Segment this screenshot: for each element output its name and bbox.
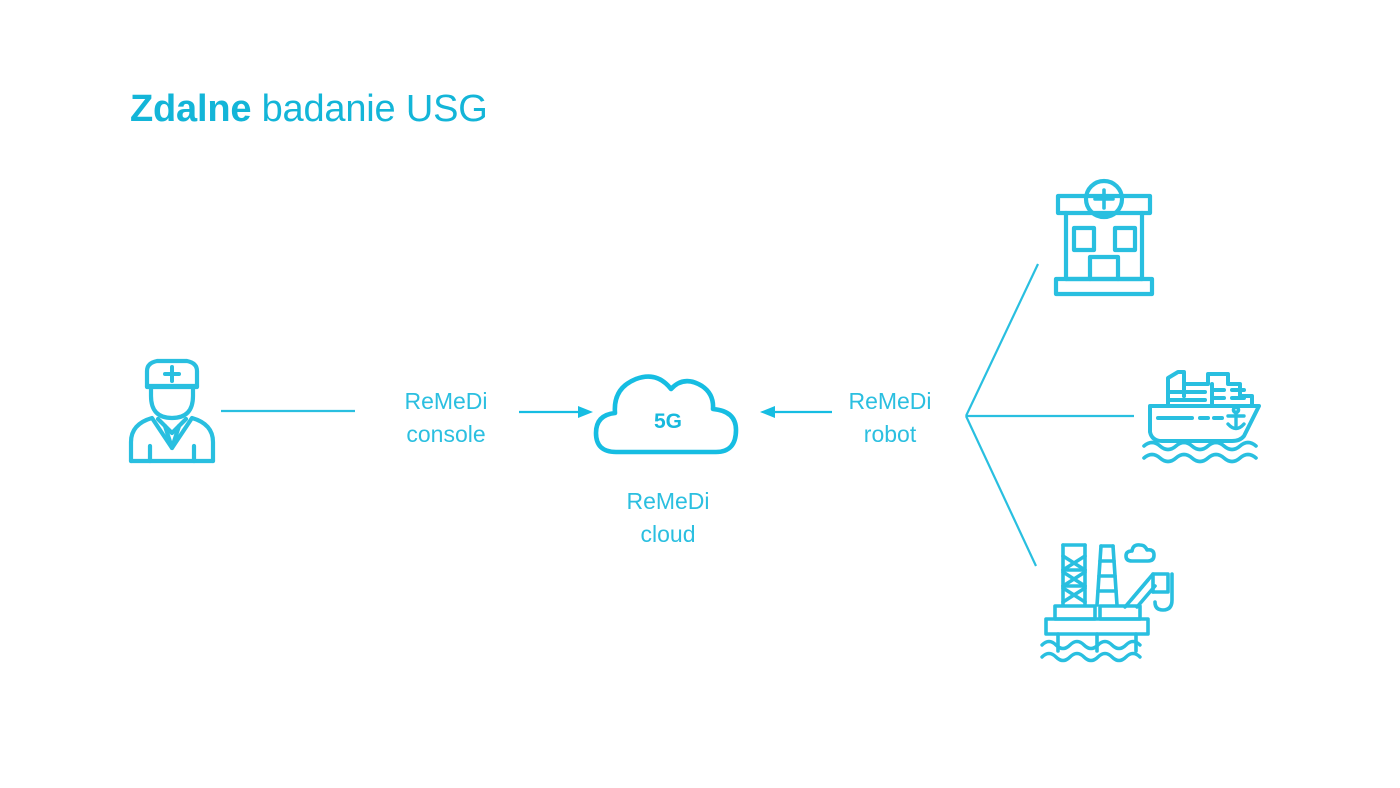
ship-icon	[1144, 372, 1259, 462]
label-remedi-cloud: ReMeDi cloud	[588, 485, 748, 551]
hospital-icon	[1056, 181, 1152, 294]
connector-console-to-cloud	[519, 406, 593, 418]
label-remedi-console-line1: ReMeDi	[366, 385, 526, 418]
label-remedi-robot-line1: ReMeDi	[810, 385, 970, 418]
label-remedi-console-line2: console	[366, 418, 526, 451]
label-remedi-robot-line2: robot	[810, 418, 970, 451]
cloud-5g-badge: 5G	[628, 410, 708, 434]
label-remedi-console: ReMeDi console	[366, 385, 526, 451]
label-remedi-cloud-line1: ReMeDi	[588, 485, 748, 518]
oil-rig-icon	[1042, 545, 1172, 661]
page-title-regular: badanie USG	[251, 88, 487, 130]
connector-branch-fan	[966, 264, 1134, 566]
label-remedi-robot: ReMeDi robot	[810, 385, 970, 451]
doctor-icon	[131, 361, 213, 461]
branch-to-hospital-line	[966, 264, 1038, 416]
page-title-bold: Zdalne	[130, 88, 251, 130]
page-title: Zdalne badanie USG	[130, 88, 488, 131]
branch-to-oilrig-line	[966, 416, 1036, 566]
label-remedi-cloud-line2: cloud	[588, 518, 748, 551]
